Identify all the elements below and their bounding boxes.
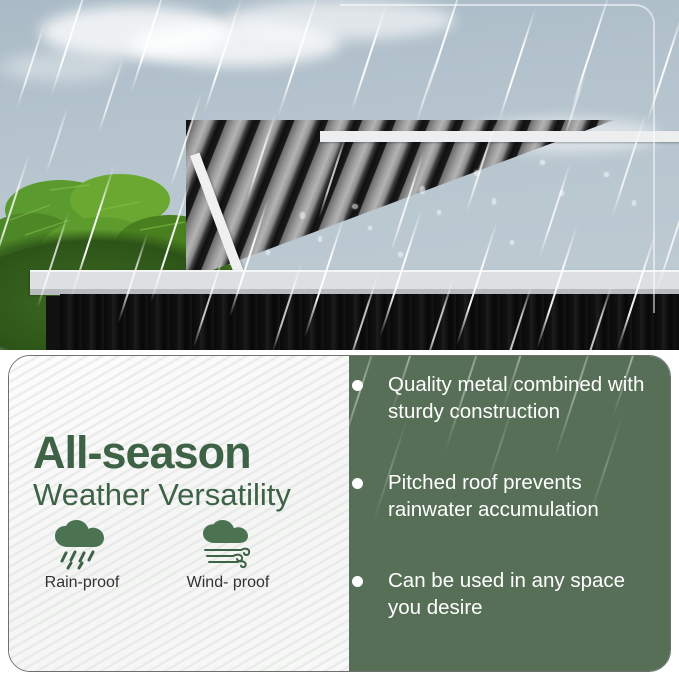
list-item-text: Quality metal combined with sturdy const… [388, 371, 662, 425]
feature-wind-proof: Wind- proof [163, 518, 293, 592]
list-item-text: Pitched roof prevents rainwater accumula… [388, 469, 662, 523]
page-subtitle: Weather Versatility [33, 478, 291, 512]
rain-cloud-icon [17, 518, 147, 570]
feature-label-wind: Wind- proof [163, 574, 293, 592]
cloud-icon [0, 52, 120, 82]
feature-card-left-panel [9, 356, 349, 671]
list-item: Pitched roof prevents rainwater accumula… [352, 469, 662, 523]
list-item-text: Can be used in any space you desire [388, 567, 662, 621]
page-title: All-season [33, 430, 251, 475]
wind-cloud-icon [163, 518, 293, 570]
bullet-dot-icon [352, 576, 363, 587]
feature-rain-proof: Rain-proof [17, 518, 147, 592]
product-feature-image: All-season Weather Versatility Rain-proo… [0, 0, 679, 679]
list-item: Quality metal combined with sturdy const… [352, 371, 662, 425]
feature-bullet-list: Quality metal combined with sturdy const… [352, 371, 662, 665]
feature-card-inner-outline [340, 4, 655, 313]
feature-label-rain: Rain-proof [17, 574, 147, 592]
list-item: Can be used in any space you desire [352, 567, 662, 621]
bullet-dot-icon [352, 478, 363, 489]
bullet-dot-icon [352, 380, 363, 391]
